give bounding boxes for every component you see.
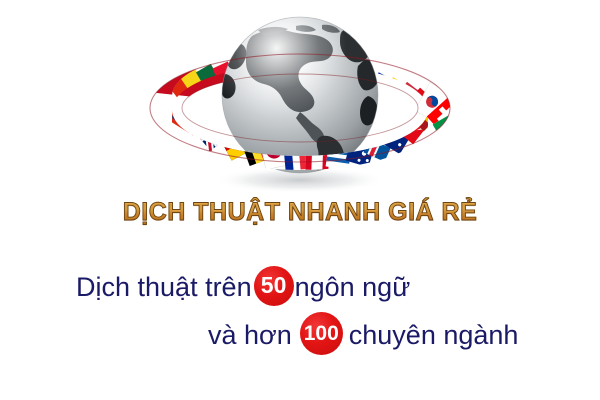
- tagline-line-2-after: chuyên ngành: [349, 320, 519, 350]
- page-title-text: DỊCH THUẬT NHANH GIÁ RẺ: [123, 198, 478, 226]
- tagline-line-2: và hơn100chuyên ngành: [0, 310, 600, 358]
- poster-canvas: DỊCH THUẬT NHANH GIÁ RẺ Dịch thuật trên5…: [0, 0, 600, 400]
- tagline-line-1-after: ngôn ngữ: [295, 272, 411, 302]
- badge-100: 100: [300, 312, 343, 355]
- globe-svg: [0, 0, 600, 200]
- tagline-line-2-before: và hơn: [208, 320, 292, 350]
- badge-50: 50: [254, 266, 294, 306]
- page-title: DỊCH THUẬT NHANH GIÁ RẺ: [0, 200, 600, 225]
- tagline-block: Dịch thuật trên50ngôn ngữ và hơn100chuyê…: [0, 262, 600, 358]
- tagline-line-1-before: Dịch thuật trên: [76, 272, 252, 302]
- globe-with-flag-ring-graphic: [0, 0, 600, 200]
- tagline-line-1: Dịch thuật trên50ngôn ngữ: [0, 262, 600, 310]
